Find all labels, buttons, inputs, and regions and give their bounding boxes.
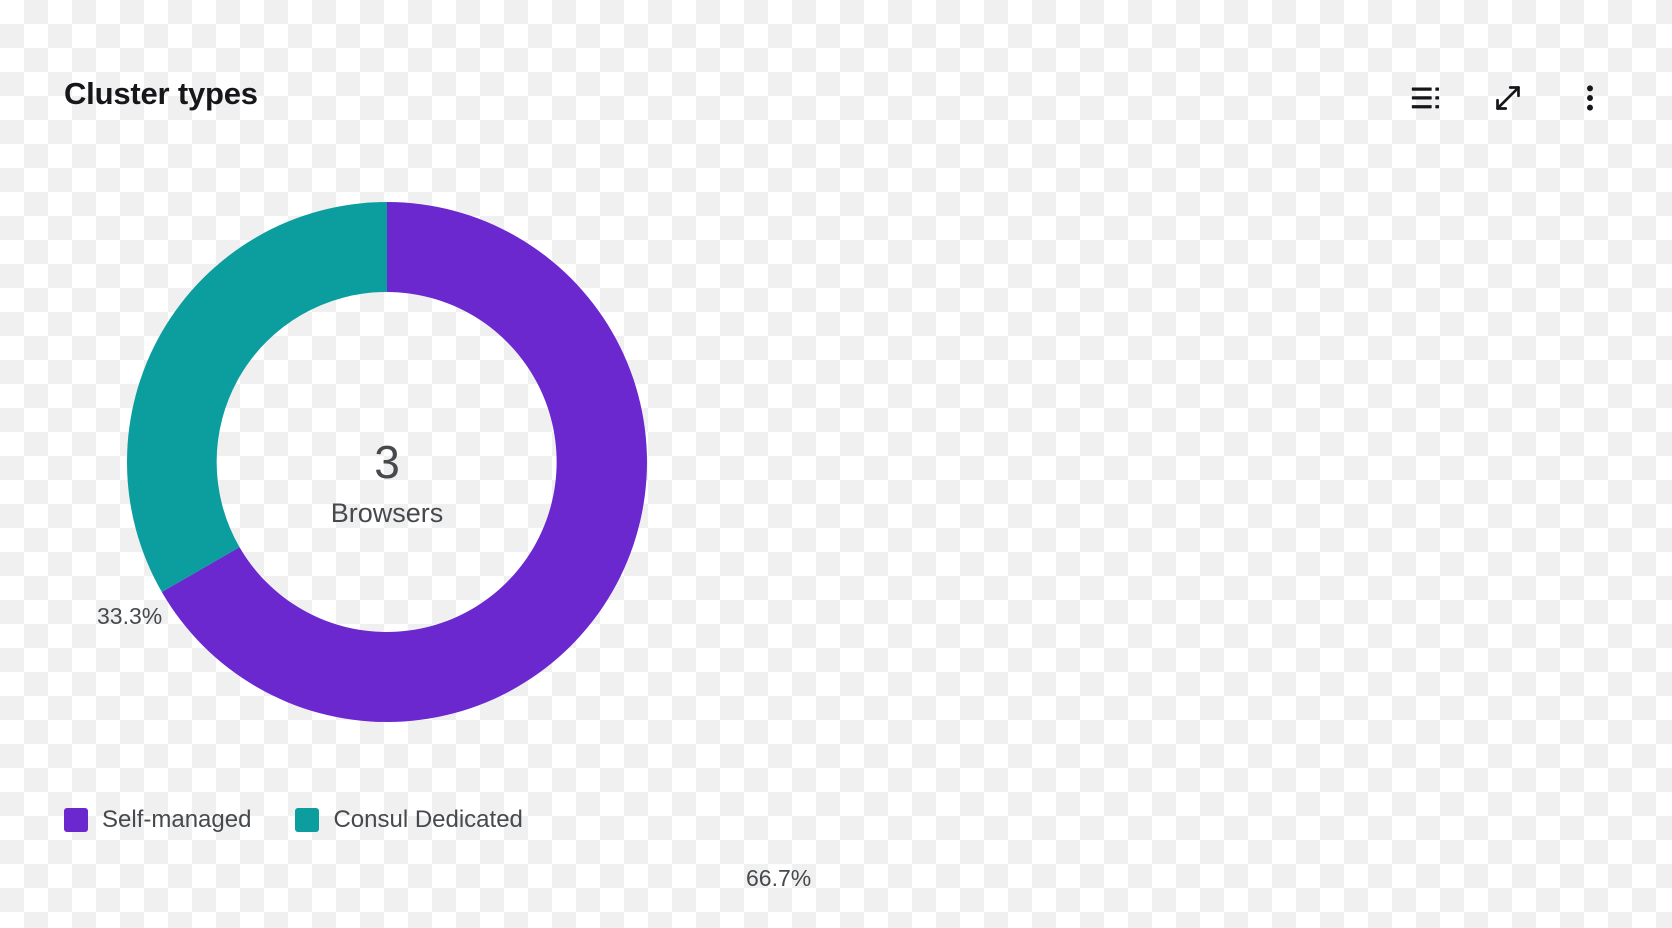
header-actions [1400,72,1616,124]
legend-swatch-icon [295,808,319,832]
legend-toggle-icon [1409,81,1443,115]
legend-item-label: Consul Dedicated [333,808,522,832]
donut-slice-consul-dedicated[interactable] [127,202,387,592]
donut-chart: 3 Browsers [127,202,647,722]
chart-legend: Self-managed Consul Dedicated [64,808,523,832]
slice-percentage-label-consul-dedicated: 33.3% [97,605,162,628]
more-options-icon [1573,81,1607,115]
chart-area: 3 Browsers 33.3% 66.7% [0,150,1672,790]
slice-percentage-label-self-managed: 66.7% [746,867,811,890]
legend-item-consul-dedicated[interactable]: Consul Dedicated [295,808,522,832]
more-options-button[interactable] [1564,72,1616,124]
cluster-types-card: Cluster types [0,0,1672,928]
expand-icon [1491,81,1525,115]
legend-swatch-icon [64,808,88,832]
donut-center-value: 3 [374,436,400,488]
legend-toggle-button[interactable] [1400,72,1452,124]
legend-item-self-managed[interactable]: Self-managed [64,808,251,832]
donut-center-label: Browsers [331,498,444,528]
expand-button[interactable] [1482,72,1534,124]
card-header: Cluster types [0,0,1672,160]
legend-item-label: Self-managed [102,808,251,832]
page-title: Cluster types [64,78,258,109]
